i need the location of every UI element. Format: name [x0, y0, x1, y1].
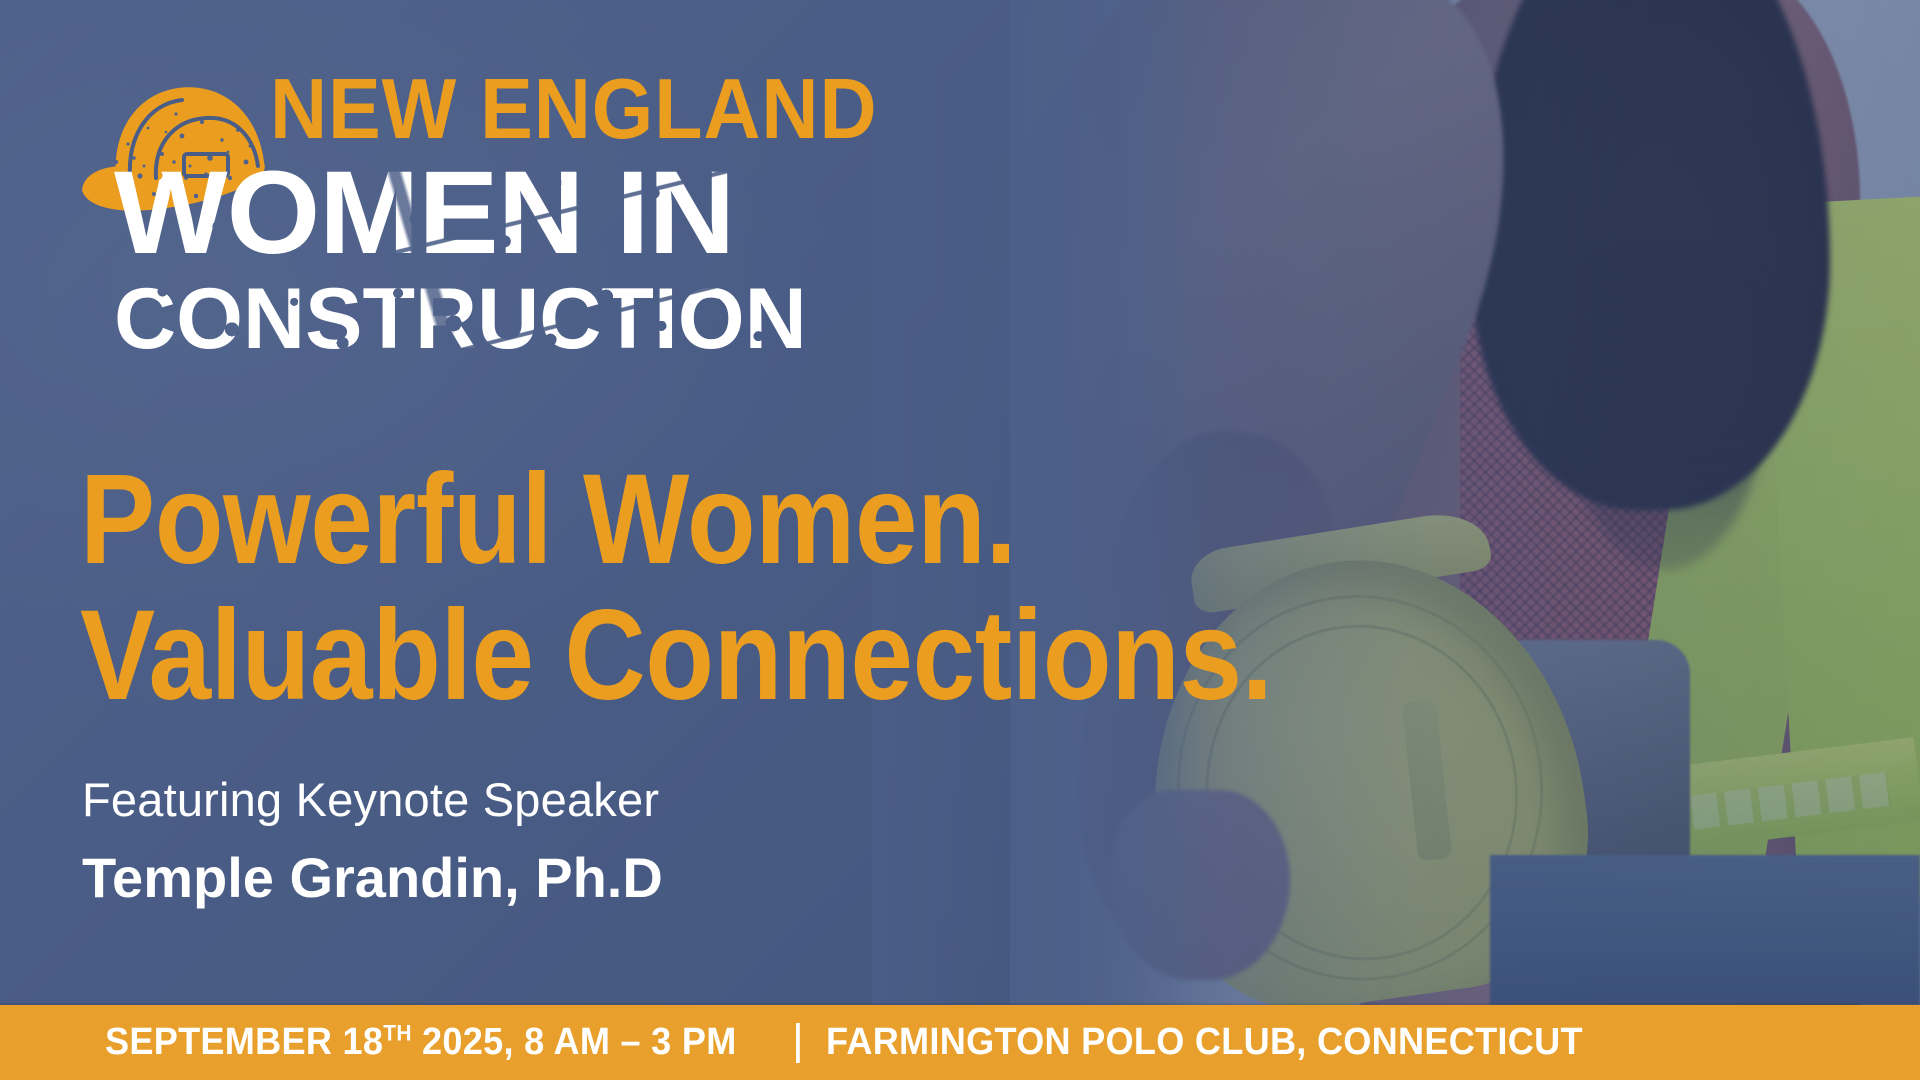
logo-line-women-in-text: WOMEN IN — [114, 154, 734, 272]
logo-line-construction: CONSTRUCTION — [114, 276, 807, 362]
footer-separator — [796, 1023, 800, 1063]
keynote-speaker-name: Temple Grandin, Ph.D — [82, 845, 663, 910]
logo-line-women-in: WOMEN IN — [114, 154, 734, 272]
event-details-text: SEPTEMBER 18TH 2025, 8 AM – 3 PM FARMING… — [105, 1021, 1622, 1064]
banner-content: NEW ENGLAND WOMEN IN CONSTRUCTION Powerf… — [0, 0, 1010, 1005]
logo-line-construction-text: CONSTRUCTION — [114, 276, 807, 362]
keynote-speaker-intro: Featuring Keynote Speaker — [82, 772, 659, 827]
event-details-bar: SEPTEMBER 18TH 2025, 8 AM – 3 PM FARMING… — [0, 1005, 1920, 1080]
logo-line-new-england: NEW ENGLAND — [270, 70, 877, 151]
event-date-time: SEPTEMBER 18TH 2025, 8 AM – 3 PM — [105, 1021, 737, 1064]
event-tagline: Powerful Women. Valuable Connections. — [80, 452, 1435, 723]
event-venue: FARMINGTON POLO CLUB, CONNECTICUT — [826, 1021, 1583, 1064]
tagline-line-1: Powerful Women. — [80, 452, 1273, 588]
event-date-ordinal: TH — [383, 1020, 411, 1045]
event-date-main: SEPTEMBER 18 — [105, 1021, 383, 1063]
tagline-line-2: Valuable Connections. — [80, 588, 1273, 724]
event-date-rest: 2025, 8 AM – 3 PM — [412, 1021, 737, 1063]
event-banner: NEW ENGLAND WOMEN IN CONSTRUCTION Powerf… — [0, 0, 1920, 1080]
